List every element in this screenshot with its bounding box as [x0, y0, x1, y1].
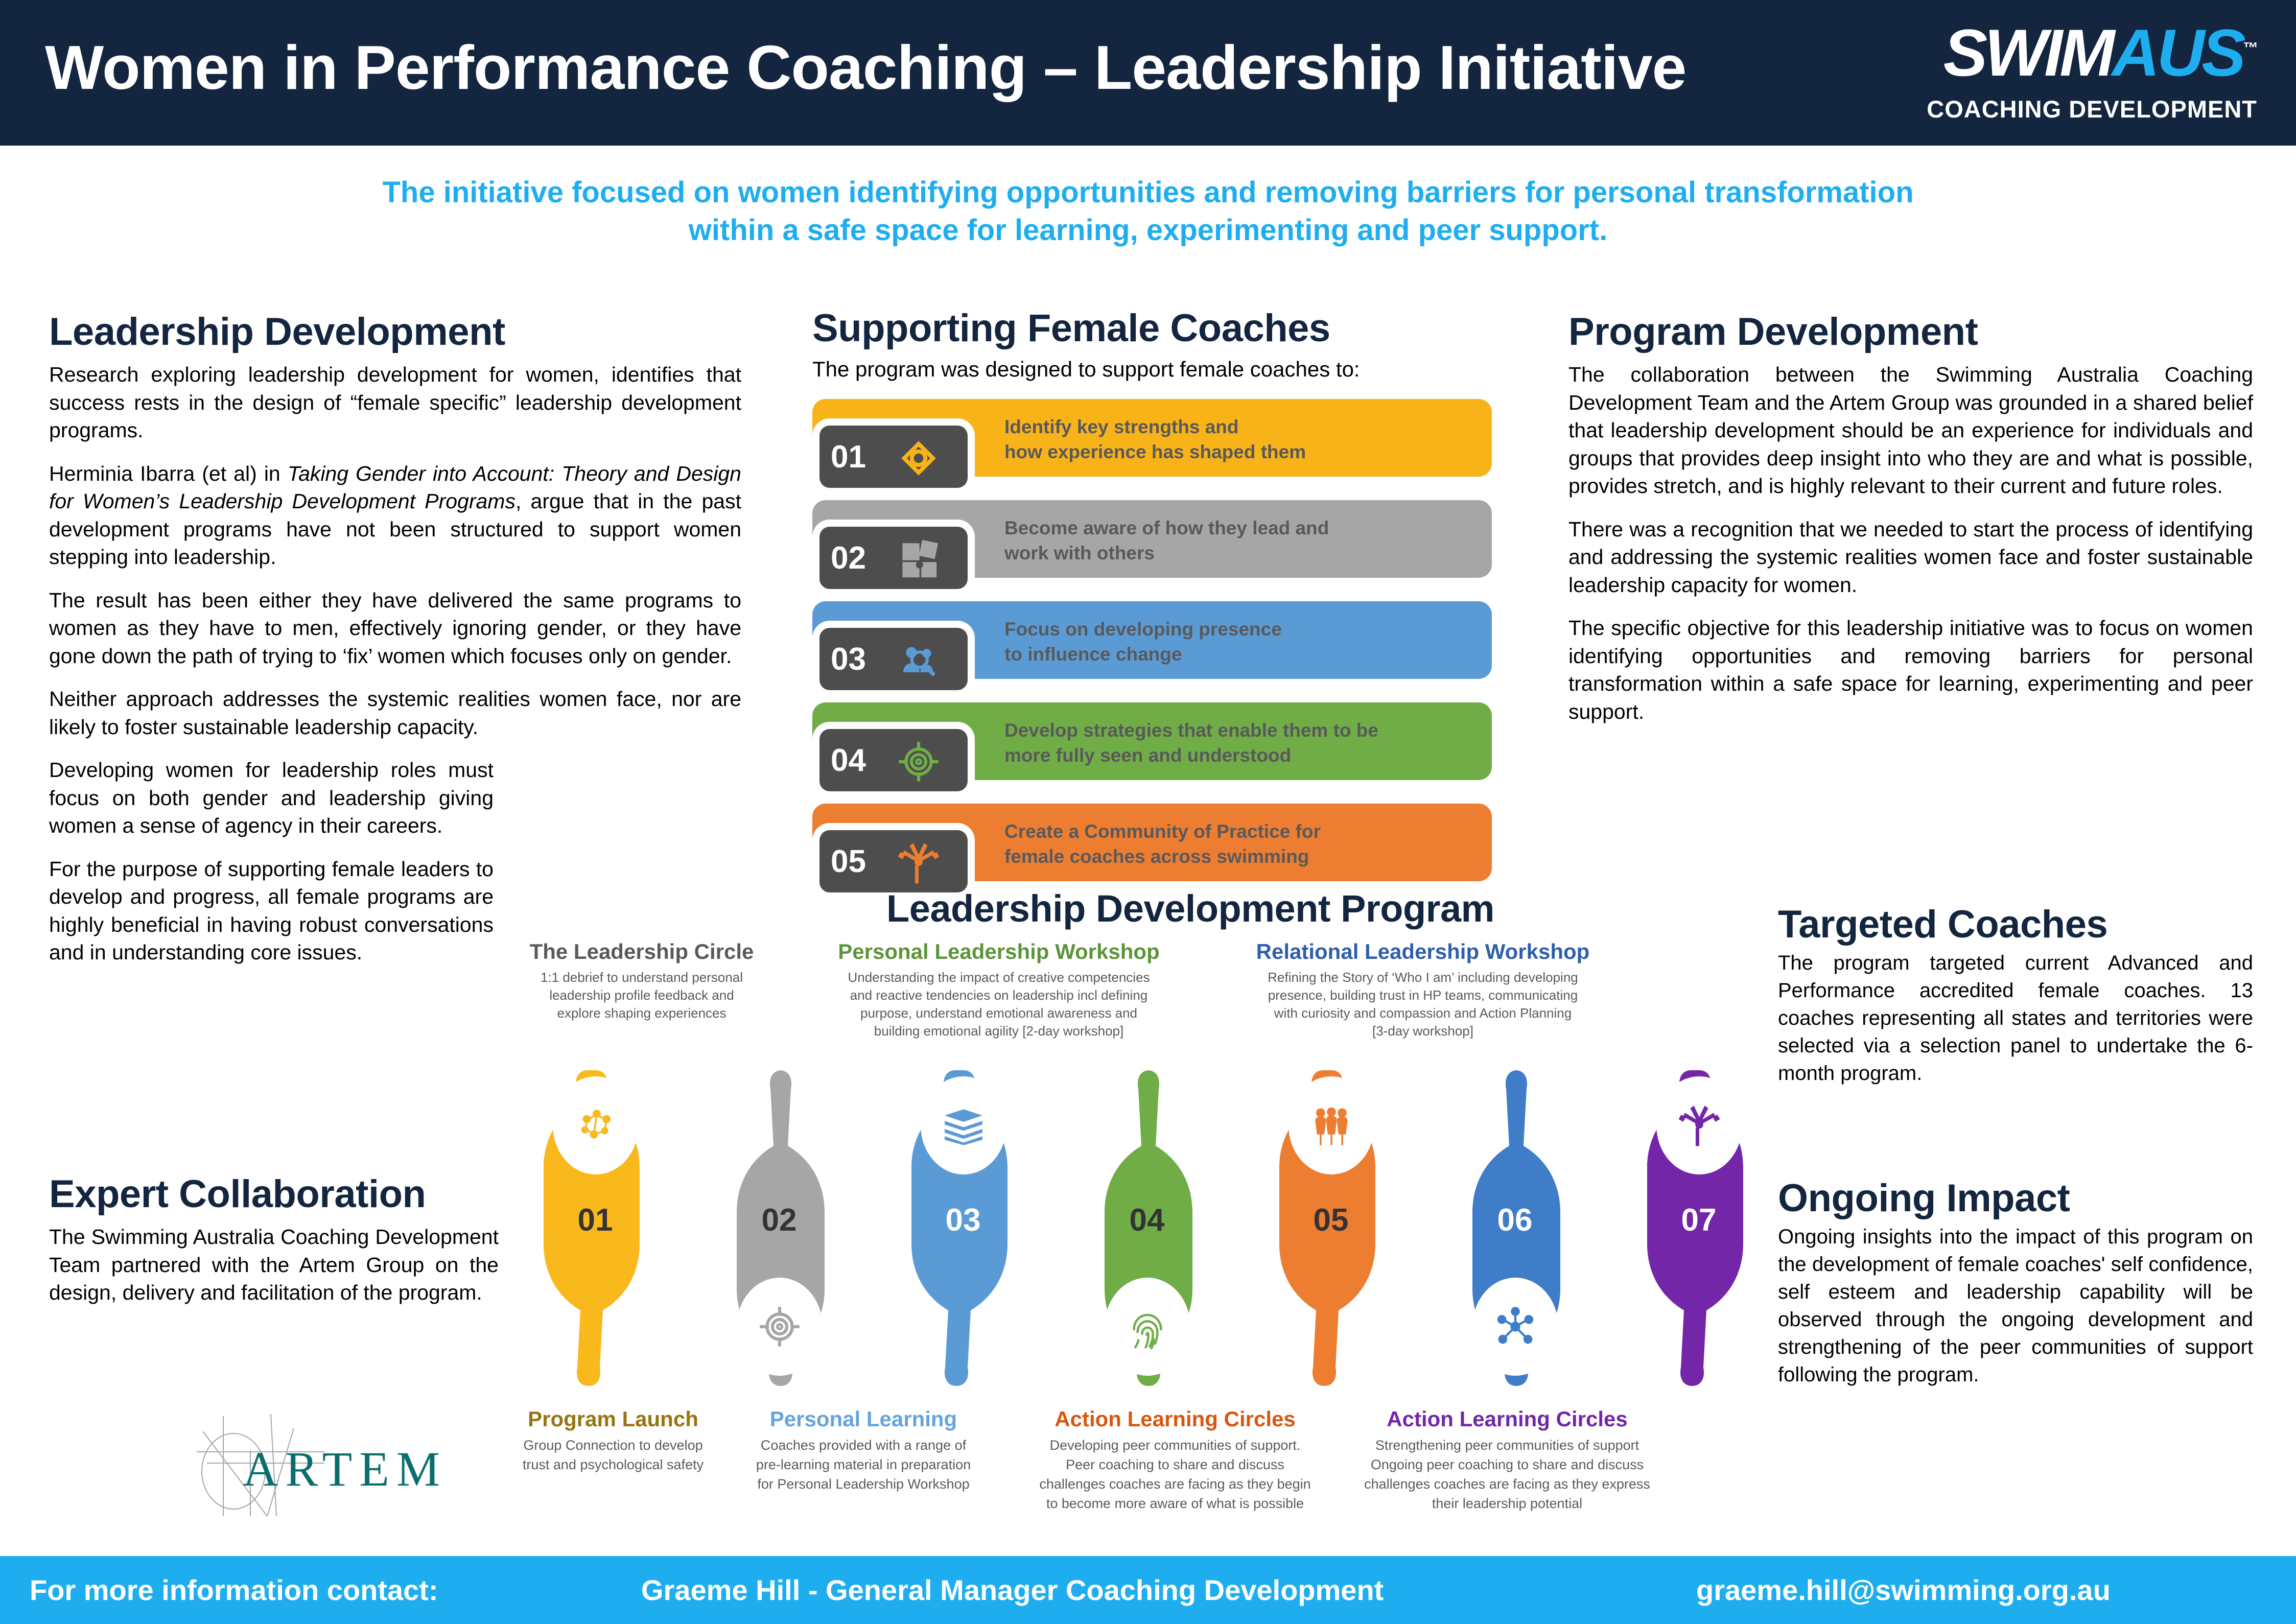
program-pin: 04: [1063, 1065, 1231, 1392]
section-ongoing-impact: Ongoing Impact Ongoing insights into the…: [1778, 1179, 2253, 1388]
three-women-icon: [1309, 1103, 1354, 1148]
workshop-3-title: Relational Leadership Workshop: [1216, 940, 1630, 963]
caption-1-desc: Group Connection to developtrust and psy…: [490, 1436, 736, 1475]
targeted-coaches-p1: The program targeted current Advanced an…: [1778, 949, 2253, 1087]
supporting-step-row: Develop strategies that enable them to b…: [812, 702, 1507, 792]
workshop-3-desc: Refining the Story of ‘Who I am’ includi…: [1216, 969, 1630, 1040]
workshop-block-3: Relational Leadership Workshop Refining …: [1216, 940, 1630, 1041]
p2-pre: Herminia Ibarra (et al) in: [49, 462, 288, 485]
footer-contact-name: Graeme Hill - General Manager Coaching D…: [641, 1573, 1384, 1607]
supporting-female-coaches-heading: Supporting Female Coaches: [812, 309, 1507, 348]
supporting-step-row: Focus on developing presenceto influence…: [812, 601, 1507, 691]
swimaus-wordmark: SWIMAUS™: [1943, 19, 2258, 86]
footer-contact-label: For more information contact:: [30, 1573, 438, 1607]
supporting-step-text: Identify key strengths andhow experience…: [1004, 414, 1464, 464]
targeted-coaches-heading: Targeted Coaches: [1778, 905, 2253, 944]
caption-2-desc: Coaches provided with a range ofpre-lear…: [720, 1436, 1006, 1494]
program-pin: 06: [1431, 1065, 1599, 1392]
workshop-1-desc: 1:1 debrief to understand personalleader…: [499, 969, 785, 1022]
poster-subtitle: The initiative focused on women identify…: [0, 174, 2296, 249]
program-pin-row: 01 02 03: [490, 1065, 1798, 1392]
supporting-step-text: Develop strategies that enable them to b…: [1004, 718, 1464, 768]
section-program-development: Program Development The collaboration be…: [1568, 313, 2253, 725]
expert-collaboration-heading: Expert Collaboration: [49, 1175, 499, 1214]
leadership-program-heading: Leadership Development Program: [833, 887, 1548, 930]
program-pin-number: 04: [1063, 1202, 1231, 1238]
section-supporting-female-coaches: Supporting Female Coaches The program wa…: [812, 309, 1507, 905]
page-footer: For more information contact: Graeme Hil…: [0, 1556, 2296, 1624]
program-pin: 02: [695, 1065, 863, 1392]
caption-1-title: Program Launch: [490, 1407, 736, 1431]
program-caption-row: Program Launch Group Connection to devel…: [490, 1407, 1798, 1543]
program-pin-number: 06: [1431, 1202, 1599, 1238]
program-pin: 01: [511, 1065, 680, 1392]
workshop-block-2: Personal Leadership Workshop Understandi…: [797, 940, 1201, 1041]
artem-logo-text: ARTEM: [243, 1442, 447, 1496]
program-pin: 05: [1247, 1065, 1415, 1392]
program-pin: 03: [879, 1065, 1047, 1392]
program-development-p3: The specific objective for this leadersh…: [1568, 614, 2253, 725]
network-hub-icon: [1493, 1304, 1538, 1349]
program-development-p2: There was a recognition that we needed t…: [1568, 515, 2253, 599]
people-search-icon: [896, 638, 942, 680]
program-pin-number: 01: [511, 1202, 680, 1238]
program-pin-number: 03: [879, 1202, 1047, 1238]
caption-4-title: Action Learning Circles: [1339, 1407, 1676, 1431]
caption-block-1: Program Launch Group Connection to devel…: [490, 1407, 736, 1475]
workshop-2-title: Personal Leadership Workshop: [797, 940, 1201, 963]
section-expert-collaboration: Expert Collaboration The Swimming Austra…: [49, 1175, 499, 1307]
expert-collaboration-p1: The Swimming Australia Coaching Developm…: [49, 1223, 499, 1307]
hands-together-icon: [896, 840, 942, 882]
supporting-step-text: Create a Community of Practice forfemale…: [1004, 819, 1464, 869]
leadership-development-heading: Leadership Development: [49, 313, 741, 351]
supporting-step-badge: 05: [819, 830, 968, 892]
workshop-1-title: The Leadership Circle: [499, 940, 785, 963]
program-development-heading: Program Development: [1568, 313, 2253, 351]
supporting-step-badge: 01: [819, 426, 968, 488]
books-icon: [941, 1103, 986, 1148]
leadership-development-p6: For the purpose of supporting female lea…: [49, 855, 494, 967]
subtitle-line-1: The initiative focused on women identify…: [0, 174, 2296, 211]
caption-block-2: Personal Learning Coaches provided with …: [720, 1407, 1006, 1494]
caption-block-3: Action Learning Circles Developing peer …: [1012, 1407, 1339, 1513]
caption-4-desc: Strengthening peer communities of suppor…: [1339, 1436, 1676, 1513]
leadership-development-p4: Neither approach addresses the systemic …: [49, 685, 741, 741]
supporting-step-number: 05: [831, 843, 866, 880]
fingerprint-icon: [1125, 1304, 1170, 1349]
supporting-step-row: Become aware of how they lead andwork wi…: [812, 500, 1507, 590]
supporting-step-badge: 02: [819, 527, 968, 589]
logo-swim-text: SWIM: [1943, 15, 2112, 90]
puzzle-icon: [896, 537, 942, 579]
page-header: Women in Performance Coaching – Leadersh…: [0, 0, 2296, 146]
supporting-steps-list: Identify key strengths andhow experience…: [812, 399, 1507, 893]
hands-together-icon: [1677, 1103, 1722, 1148]
page-title: Women in Performance Coaching – Leadersh…: [45, 32, 1686, 103]
logo-aus-text: AUS: [2112, 15, 2243, 90]
program-pin-number: 05: [1247, 1202, 1415, 1238]
caption-3-desc: Developing peer communities of support.P…: [1012, 1436, 1339, 1513]
section-leadership-development: Leadership Development Research explorin…: [49, 313, 741, 967]
supporting-step-text: Focus on developing presenceto influence…: [1004, 617, 1464, 667]
artem-logo: ARTEM: [176, 1410, 452, 1538]
supporting-step-row: Create a Community of Practice forfemale…: [812, 804, 1507, 893]
supporting-female-coaches-lead: The program was designed to support fema…: [812, 357, 1507, 382]
supporting-step-number: 01: [831, 439, 866, 475]
target-icon: [896, 739, 942, 781]
supporting-step-number: 04: [831, 742, 866, 779]
subtitle-line-2: within a safe space for learning, experi…: [0, 211, 2296, 249]
program-development-p1: The collaboration between the Swimming A…: [1568, 361, 2253, 500]
leadership-development-p1: Research exploring leadership developmen…: [49, 361, 741, 444]
section-targeted-coaches: Targeted Coaches The program targeted cu…: [1778, 905, 2253, 1087]
workshop-2-desc: Understanding the impact of creative com…: [797, 969, 1201, 1040]
ongoing-impact-p1: Ongoing insights into the impact of this…: [1778, 1223, 2253, 1388]
supporting-step-badge: 03: [819, 628, 968, 690]
supporting-step-number: 03: [831, 641, 866, 677]
caption-block-4: Action Learning Circles Strengthening pe…: [1339, 1407, 1676, 1513]
caption-2-title: Personal Learning: [720, 1407, 1006, 1431]
eye-icon: [896, 436, 942, 478]
network-people-icon: [573, 1103, 618, 1148]
logo-subtitle: COACHING DEVELOPMENT: [1927, 95, 2257, 123]
poster-root: Women in Performance Coaching – Leadersh…: [0, 0, 2296, 1624]
supporting-step-row: Identify key strengths andhow experience…: [812, 399, 1507, 489]
target-icon: [757, 1304, 802, 1349]
caption-3-title: Action Learning Circles: [1012, 1407, 1339, 1431]
workshop-block-1: The Leadership Circle 1:1 debrief to und…: [499, 940, 785, 1022]
program-pin-number: 02: [695, 1202, 863, 1238]
supporting-step-badge: 04: [819, 729, 968, 791]
program-pin: 07: [1614, 1065, 1783, 1392]
leadership-development-p5: Developing women for leadership roles mu…: [49, 756, 494, 840]
leadership-development-p3: The result has been either they have del…: [49, 586, 741, 670]
leadership-development-p2: Herminia Ibarra (et al) in Taking Gender…: [49, 460, 741, 571]
program-pin-number: 07: [1614, 1202, 1783, 1238]
supporting-step-number: 02: [831, 540, 866, 576]
ongoing-impact-heading: Ongoing Impact: [1778, 1179, 2253, 1218]
swimaus-logo: SWIMAUS™ COACHING DEVELOPMENT: [1812, 19, 2271, 129]
supporting-step-text: Become aware of how they lead andwork wi…: [1004, 515, 1464, 566]
trademark-icon: ™: [2243, 40, 2258, 57]
footer-contact-email[interactable]: graeme.hill@swimming.org.au: [1696, 1573, 2111, 1607]
leadership-program-diagram: The Leadership Circle 1:1 debrief to und…: [490, 940, 1798, 1543]
